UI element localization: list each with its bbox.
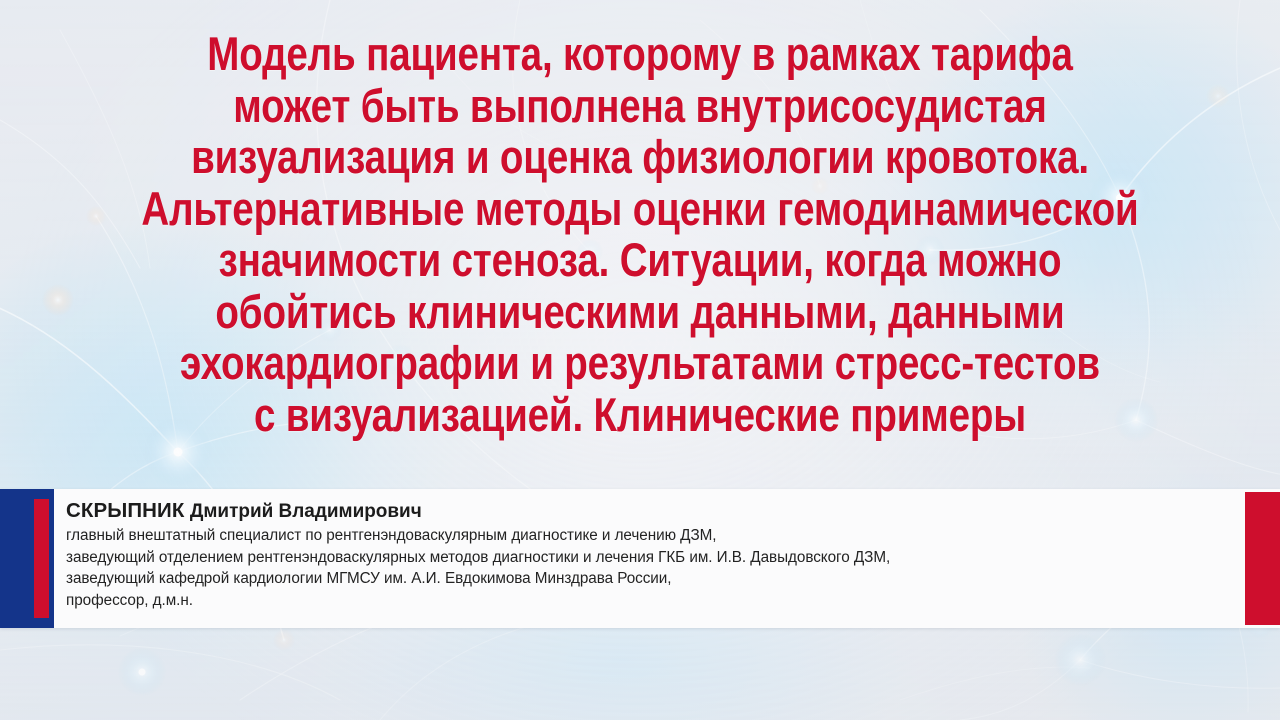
title-line-1: Модель пациента, которому в рамках тариф… xyxy=(115,28,1165,80)
accent-bar-red-right xyxy=(1245,492,1280,625)
title-line-4: Альтернативные методы оценки гемодинамич… xyxy=(115,183,1165,235)
speaker-role-line-3: заведующий кафедрой кардиологии МГМСУ им… xyxy=(66,568,1234,590)
title-line-3: визуализация и оценка физиологии кровото… xyxy=(115,131,1165,183)
speaker-role-line-4: профессор, д.м.н. xyxy=(66,590,1234,612)
accent-strip-red xyxy=(34,499,49,618)
speaker-info: СКРЫПНИК Дмитрий Владимирович главный вн… xyxy=(66,499,1236,611)
title-line-2: может быть выполнена внутрисосудистая xyxy=(115,80,1165,132)
slide-canvas: Модель пациента, которому в рамках тариф… xyxy=(0,0,1280,720)
accent-bar-blue xyxy=(0,489,54,628)
speaker-surname: СКРЫПНИК xyxy=(66,499,184,522)
speaker-lower-third: СКРЫПНИК Дмитрий Владимирович главный вн… xyxy=(0,489,1280,628)
title-line-8: с визуализацией. Клинические примеры xyxy=(115,389,1165,441)
title-line-7: эхокардиографии и результатами стресс-те… xyxy=(115,337,1165,389)
speaker-given-patronymic: Дмитрий Владимирович xyxy=(190,501,422,522)
speaker-role-line-2: заведующий отделением рентгенэндоваскуля… xyxy=(66,547,1234,569)
title-line-5: значимости стеноза. Ситуации, когда можн… xyxy=(115,234,1165,286)
slide-title: Модель пациента, которому в рамках тариф… xyxy=(0,28,1280,440)
speaker-name: СКРЫПНИК Дмитрий Владимирович xyxy=(66,499,1234,524)
speaker-role-line-1: главный внештатный специалист по рентген… xyxy=(66,525,1234,547)
title-line-6: обойтись клиническими данными, данными xyxy=(115,286,1165,338)
